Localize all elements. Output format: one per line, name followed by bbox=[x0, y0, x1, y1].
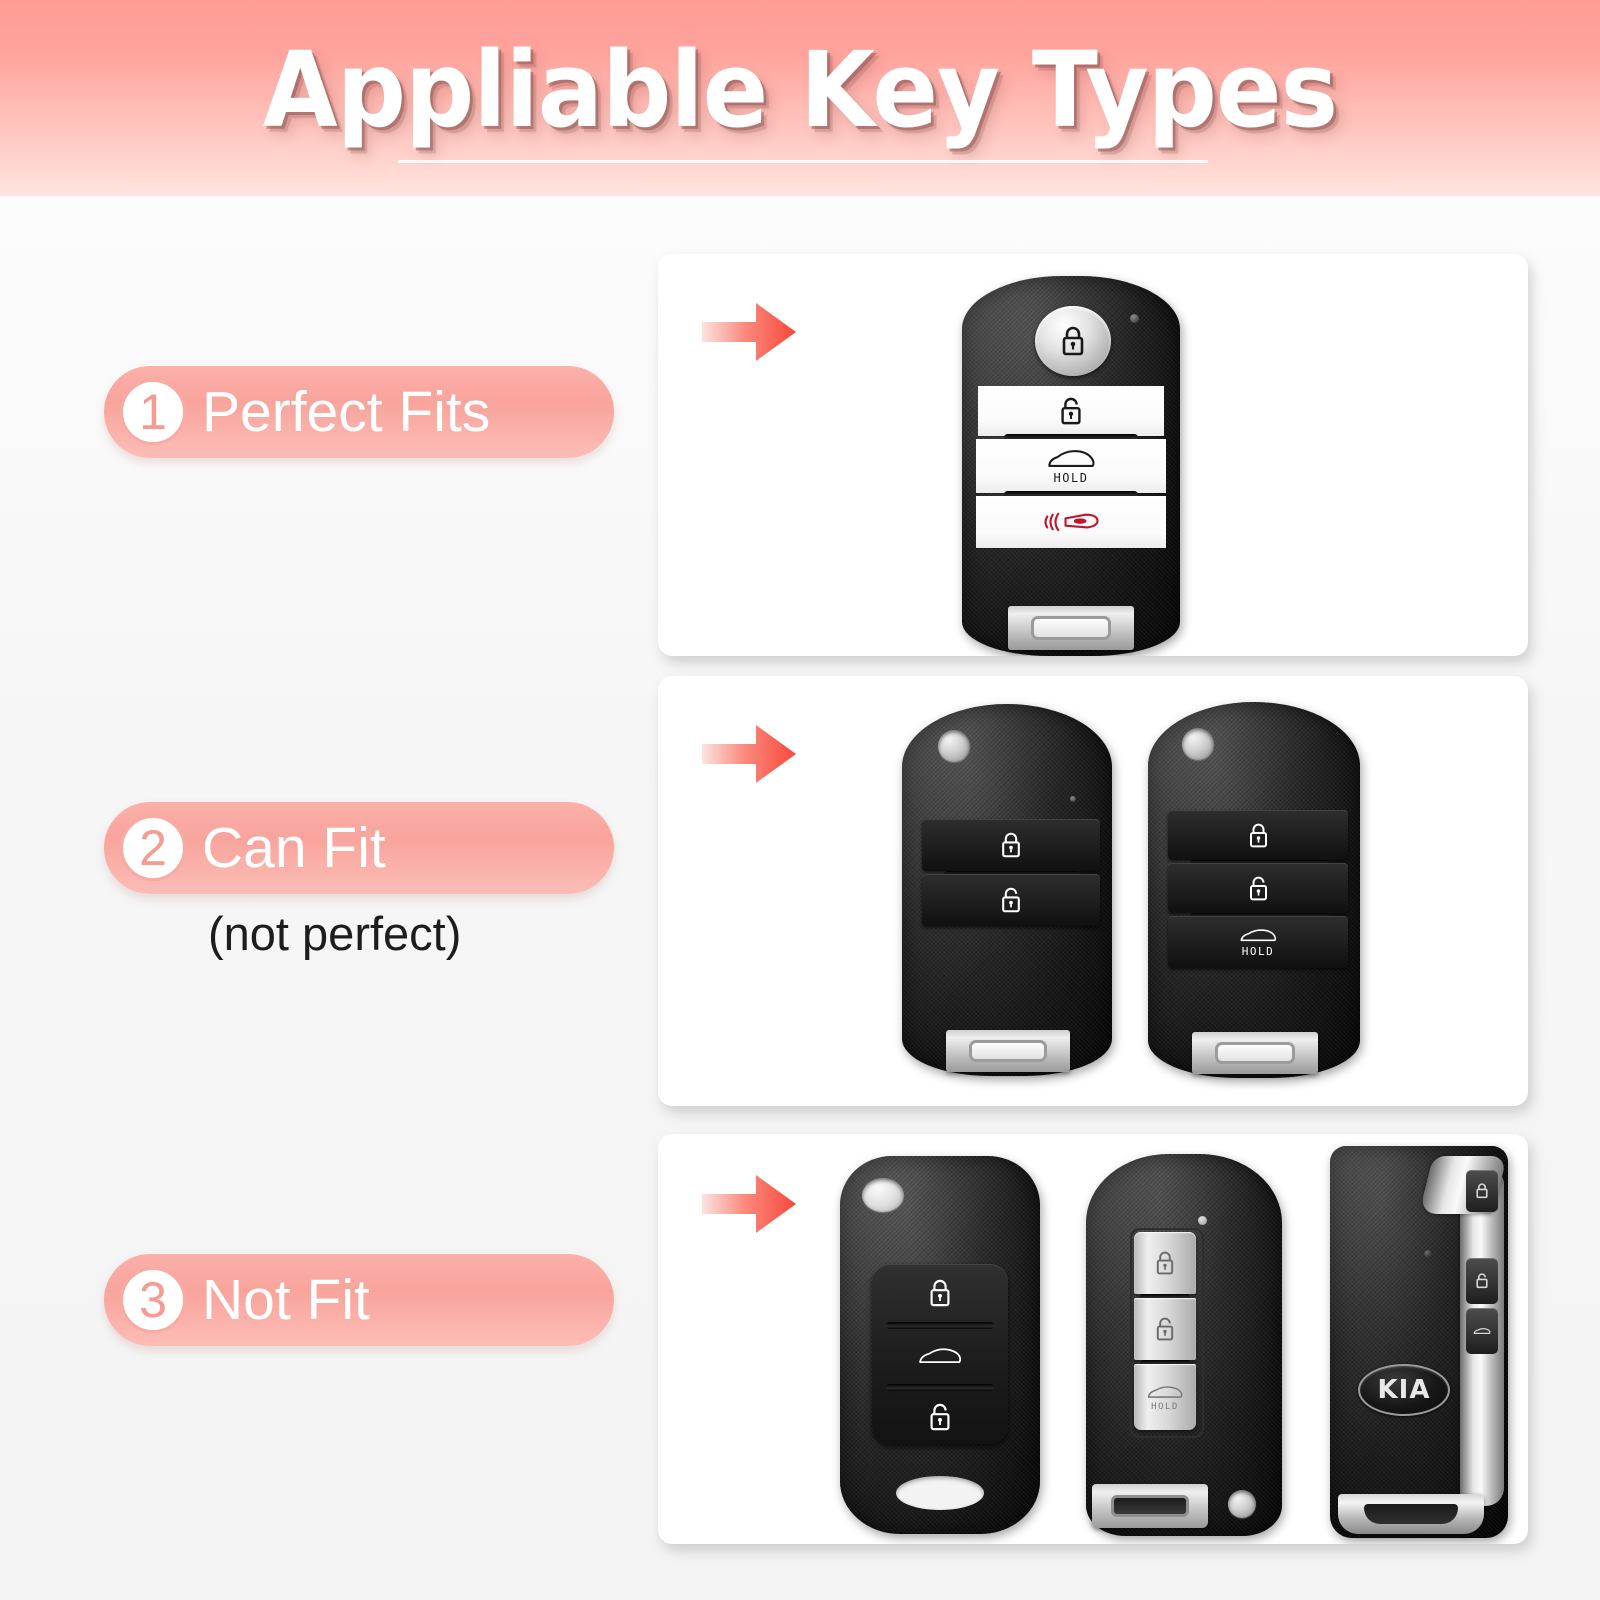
unlock-icon bbox=[926, 1401, 954, 1433]
lock-icon bbox=[998, 830, 1024, 860]
trunk-icon bbox=[917, 1345, 963, 1367]
badge-number: 3 bbox=[120, 1267, 186, 1333]
trunk-hold-label: HOLD bbox=[1242, 945, 1275, 958]
badge-label: Can Fit bbox=[202, 818, 386, 878]
badge-column-3: 3 Not Fit bbox=[104, 1254, 634, 1346]
key-button-lock[interactable] bbox=[1168, 810, 1348, 860]
key-button-trunk[interactable] bbox=[872, 1328, 1008, 1384]
key-kia-flip-key-2-button bbox=[902, 704, 1112, 1076]
key-kia-smart-key-4-button: HOLD bbox=[962, 276, 1180, 656]
status-badge-perfect-fits[interactable]: 1 Perfect Fits bbox=[104, 366, 614, 458]
trunk-icon bbox=[1238, 926, 1278, 944]
key-panel-can-fit: HOLD bbox=[658, 676, 1528, 1106]
keys-container-3: HOLD bbox=[658, 1134, 1528, 1544]
key-panel-perfect-fits: HOLD bbox=[658, 254, 1528, 656]
blade-slot bbox=[1031, 616, 1110, 640]
title-underline bbox=[398, 160, 1208, 163]
badge-label: Perfect Fits bbox=[202, 382, 490, 442]
trunk-hold-label: HOLD bbox=[1054, 471, 1089, 485]
key-panel-not-fit: HOLD bbox=[658, 1134, 1528, 1544]
lock-icon bbox=[926, 1277, 954, 1309]
lock-icon bbox=[1474, 1182, 1490, 1200]
key-button-unlock[interactable] bbox=[872, 1390, 1008, 1444]
key-blade bbox=[1338, 1494, 1484, 1534]
key-hyundai-smart-key-3-button: HOLD bbox=[1086, 1154, 1282, 1536]
unlock-icon bbox=[1474, 1272, 1490, 1290]
keyring-hole bbox=[862, 1178, 904, 1212]
unlock-icon bbox=[1057, 395, 1085, 427]
blade-slot bbox=[1111, 1495, 1189, 1517]
key-button-unlock[interactable] bbox=[1466, 1258, 1498, 1304]
key-button-unlock[interactable] bbox=[1168, 863, 1348, 913]
badge-column-1: 1 Perfect Fits bbox=[104, 366, 634, 458]
page-title: Appliable Key Types bbox=[56, 30, 1544, 150]
key-button-lock[interactable] bbox=[1466, 1170, 1498, 1212]
keys-container-2: HOLD bbox=[658, 676, 1528, 1106]
blade-slot bbox=[1364, 1504, 1457, 1525]
badge-column-2: 2 Can Fit (not perfect) bbox=[104, 802, 634, 962]
key-button-lock[interactable] bbox=[1134, 1232, 1196, 1294]
badge-label: Not Fit bbox=[202, 1270, 370, 1330]
key-button-unlock[interactable] bbox=[978, 386, 1164, 436]
led-indicator bbox=[1130, 314, 1139, 323]
unlock-icon bbox=[998, 885, 1024, 915]
status-badge-not-fit[interactable]: 3 Not Fit bbox=[104, 1254, 614, 1346]
section-row-3: 3 Not Fit bbox=[0, 1134, 1600, 1546]
trunk-hold-label: HOLD bbox=[1151, 1402, 1179, 1412]
section-row-2: 2 Can Fit (not perfect) bbox=[0, 674, 1600, 1106]
key-button-trunk-hold[interactable]: HOLD bbox=[1134, 1364, 1196, 1430]
key-button-lock[interactable] bbox=[872, 1264, 1008, 1322]
key-kia-logo-smart-key: KIA bbox=[1330, 1146, 1508, 1538]
trunk-icon bbox=[1473, 1323, 1491, 1339]
badge-number: 2 bbox=[120, 815, 186, 881]
key-button-trunk-hold[interactable]: HOLD bbox=[976, 439, 1166, 493]
lock-icon bbox=[1153, 1249, 1177, 1277]
key-button-trunk[interactable] bbox=[1466, 1308, 1498, 1354]
key-button-unlock[interactable] bbox=[922, 874, 1100, 926]
led-indicator bbox=[1424, 1250, 1432, 1258]
key-blade bbox=[1092, 1484, 1208, 1528]
header-banner: Appliable Key Types bbox=[0, 0, 1600, 196]
lanyard-cutout bbox=[896, 1476, 984, 1510]
unlock-icon bbox=[1246, 874, 1271, 903]
key-blade bbox=[1008, 606, 1134, 650]
lock-icon bbox=[1246, 821, 1271, 850]
trunk-icon bbox=[1146, 1383, 1184, 1401]
lock-icon bbox=[1058, 324, 1088, 358]
key-blade bbox=[1192, 1032, 1318, 1074]
led-indicator bbox=[1198, 1216, 1207, 1225]
keyring-hole bbox=[1228, 1490, 1256, 1518]
key-old-flip-key-3-button bbox=[840, 1156, 1040, 1534]
kia-logo: KIA bbox=[1358, 1364, 1450, 1416]
badge-number: 1 bbox=[120, 379, 186, 445]
section-row-1: 1 Perfect Fits bbox=[0, 240, 1600, 660]
blade-slot bbox=[969, 1040, 1047, 1063]
keys-container-1: HOLD bbox=[658, 254, 1528, 656]
key-blade bbox=[946, 1030, 1070, 1072]
key-button-unlock[interactable] bbox=[1134, 1298, 1196, 1360]
key-button-panic[interactable] bbox=[976, 496, 1166, 548]
key-kia-flip-key-3-button: HOLD bbox=[1148, 702, 1360, 1078]
keyring-hole bbox=[938, 730, 970, 762]
trunk-icon bbox=[1045, 448, 1097, 470]
unlock-icon bbox=[1153, 1315, 1177, 1343]
key-button-lock[interactable] bbox=[1035, 306, 1111, 376]
button-cluster bbox=[872, 1264, 1008, 1444]
led-indicator bbox=[1070, 796, 1076, 802]
content-area: 1 Perfect Fits bbox=[0, 196, 1600, 1600]
panic-horn-icon bbox=[1040, 509, 1102, 535]
key-button-trunk-hold[interactable]: HOLD bbox=[1168, 916, 1348, 968]
keyring-hole bbox=[1182, 728, 1214, 760]
status-badge-can-fit[interactable]: 2 Can Fit bbox=[104, 802, 614, 894]
key-button-lock[interactable] bbox=[922, 819, 1100, 871]
blade-slot bbox=[1215, 1042, 1294, 1065]
badge-sublabel: (not perfect) bbox=[208, 906, 634, 962]
